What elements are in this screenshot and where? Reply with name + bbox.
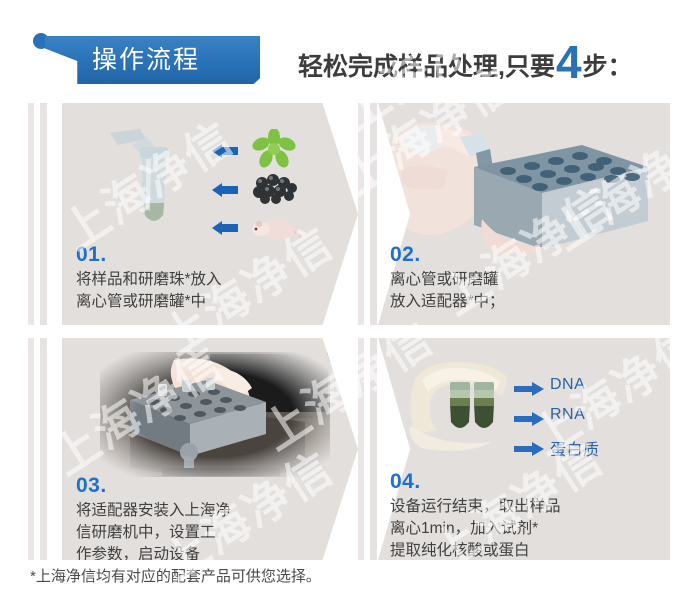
step-number-01: 01. xyxy=(76,243,107,267)
step-panel-02: 02. 离心管或研磨罐 放入适配器*中； xyxy=(358,103,688,325)
hand-with-adapter-photo xyxy=(386,109,666,254)
decor-stripe xyxy=(40,338,47,560)
input-arrow-icon-2 xyxy=(212,183,238,196)
headline-text-前: 轻松完成样品处理,只要 xyxy=(298,47,555,83)
decor-stripe xyxy=(28,338,34,560)
step-number-04: 04. xyxy=(390,470,421,494)
output-label-dna: DNA xyxy=(550,376,585,394)
input-arrow-icon-3 xyxy=(212,221,238,234)
decor-stripes-left-04 xyxy=(358,338,377,560)
step-panel-01: 01. 将样品和研磨珠*放入 离心管或研磨罐*中 xyxy=(28,103,358,325)
headline-text-后: 步： xyxy=(583,47,633,83)
decor-stripe xyxy=(370,338,377,560)
step-text-02: 离心管或研磨罐 放入适配器*中； xyxy=(390,269,645,313)
output-label-protein: 蛋白质 xyxy=(550,436,600,460)
banner-label: 操作流程 xyxy=(92,42,262,78)
grinder-installation-photo xyxy=(100,352,330,477)
headline-step-count: 4 xyxy=(556,41,582,83)
decor-stripes-left-02 xyxy=(358,103,377,325)
leaf-icon xyxy=(252,129,296,169)
step-text-04: 设备运行结束，取出样品 离心1min，加入试剂* 提取纯化核酸或蛋白 xyxy=(390,496,660,560)
step-panel-04: DNA RNA 蛋白质 04. 设备运行结束，取出样品 离心1min，加入试剂*… xyxy=(358,338,688,560)
page-header: 操作流程 轻松完成样品处理,只要 4 步： xyxy=(0,0,700,98)
decor-stripe xyxy=(358,338,364,560)
grinding-beads-icon xyxy=(252,171,300,205)
output-arrow-icon-dna xyxy=(514,382,542,395)
decor-stripes-left-03 xyxy=(28,338,47,560)
gloved-hand-tubes-photo xyxy=(404,356,534,456)
step-panel-03: 03. 将适配器安装入上海净 信研磨机中，设置工 作参数，启动设备 xyxy=(28,338,358,560)
centrifuge-tube-icon xyxy=(102,125,192,250)
decor-stripe xyxy=(28,103,34,325)
output-arrow-icon-protein xyxy=(514,442,542,455)
mouse-icon xyxy=(250,213,302,243)
decor-stripe xyxy=(370,103,377,325)
decor-stripe xyxy=(40,103,47,325)
step-text-03: 将适配器安装入上海净 信研磨机中，设置工 作参数，启动设备 xyxy=(76,500,326,560)
decor-stripes-left xyxy=(28,103,47,325)
input-arrow-icon-1 xyxy=(212,144,238,157)
output-arrow-icon-rna xyxy=(514,412,542,425)
process-infographic: 操作流程 轻松完成样品处理,只要 4 步： xyxy=(0,0,700,613)
output-label-rna: RNA xyxy=(550,406,585,424)
decor-stripe xyxy=(358,103,364,325)
headline: 轻松完成样品处理,只要 4 步： xyxy=(298,38,633,86)
step-number-02: 02. xyxy=(390,243,421,267)
step-number-03: 03. xyxy=(76,474,107,498)
footnote: *上海净信均有对应的配套产品可供您选择。 xyxy=(30,565,321,586)
step-text-01: 将样品和研磨珠*放入 离心管或研磨罐*中 xyxy=(76,269,326,313)
